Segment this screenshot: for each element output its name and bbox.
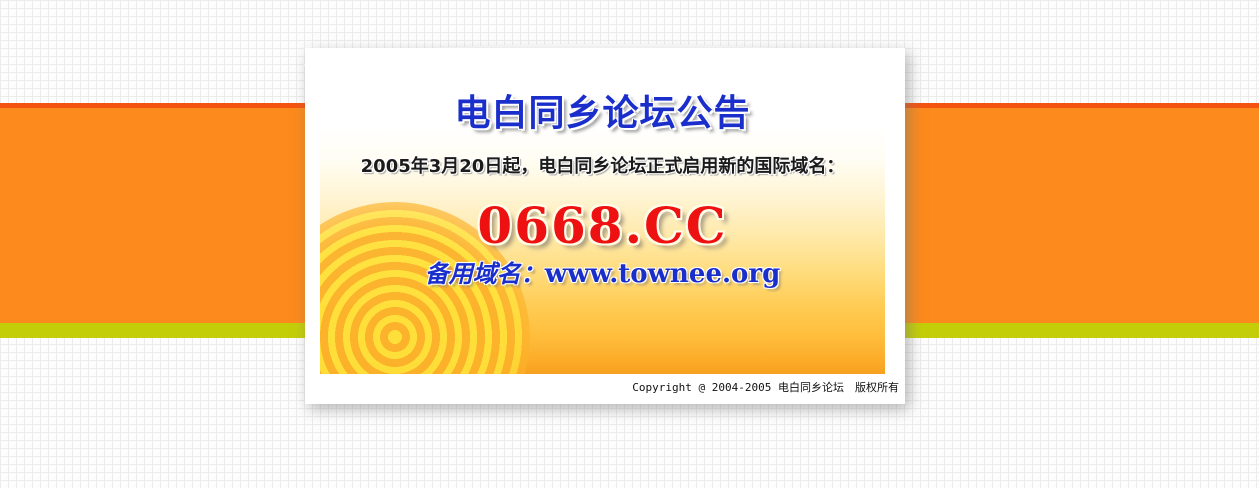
poster-title: 电白同乡论坛公告 <box>320 84 885 136</box>
copyright-text: Copyright @ 2004-2005 电白同乡论坛 版权所有 <box>305 374 905 403</box>
poster-subtitle: 2005年3月20日起，电白同乡论坛正式启用新的国际域名： <box>320 152 885 178</box>
page-background: 电白同乡论坛公告 2005年3月20日起，电白同乡论坛正式启用新的国际域名： 0… <box>0 0 1259 488</box>
announcement-poster: 电白同乡论坛公告 2005年3月20日起，电白同乡论坛正式启用新的国际域名： 0… <box>320 56 885 374</box>
primary-domain-text: 0668.CC <box>320 196 885 255</box>
alternate-domain-url[interactable]: www.townee.org <box>545 259 781 289</box>
alternate-domain-line: 备用域名：www.townee.org <box>320 254 885 289</box>
alternate-domain-label: 备用域名： <box>425 259 545 288</box>
